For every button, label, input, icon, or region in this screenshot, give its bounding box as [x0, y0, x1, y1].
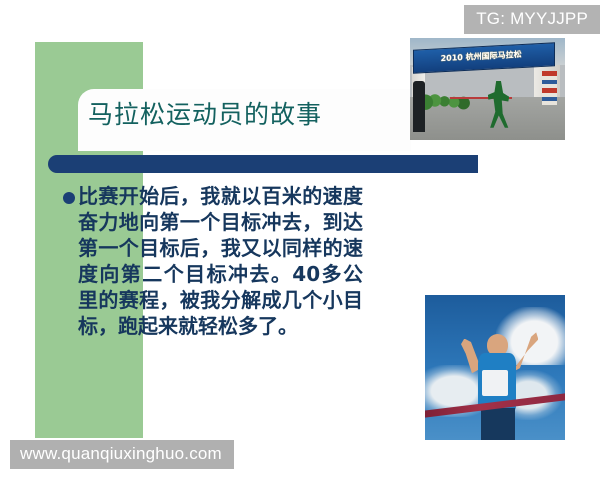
page-title: 马拉松运动员的故事 — [88, 100, 418, 130]
telegram-tag-watermark: TG: MYYJJPP — [464, 5, 600, 34]
website-url-watermark: www.quanqiuxinghuo.com — [10, 440, 234, 469]
runner-legs — [481, 408, 515, 440]
title-divider-rule — [48, 155, 478, 173]
marathon-start-gate-photo: 2010 杭州国际马拉松 — [410, 38, 565, 140]
arch-sponsor-signs — [542, 71, 558, 106]
presentation-slide: 马拉松运动员的故事 比赛开始后，我就以百米的速度奋力地向第一个目标冲去，到达第一… — [0, 0, 600, 480]
foreground-official — [413, 81, 425, 132]
bullet-disc-icon — [63, 192, 75, 204]
runner-finish-line-photo — [425, 295, 565, 440]
spectators-in-green — [419, 85, 472, 128]
body-text: 比赛开始后，我就以百米的速度奋力地向第一个目标冲去，到达第一个目标后，我又以同样… — [78, 183, 363, 339]
race-bib — [482, 370, 507, 396]
body-paragraph: 比赛开始后，我就以百米的速度奋力地向第一个目标冲去，到达第一个目标后，我又以同样… — [63, 183, 363, 339]
